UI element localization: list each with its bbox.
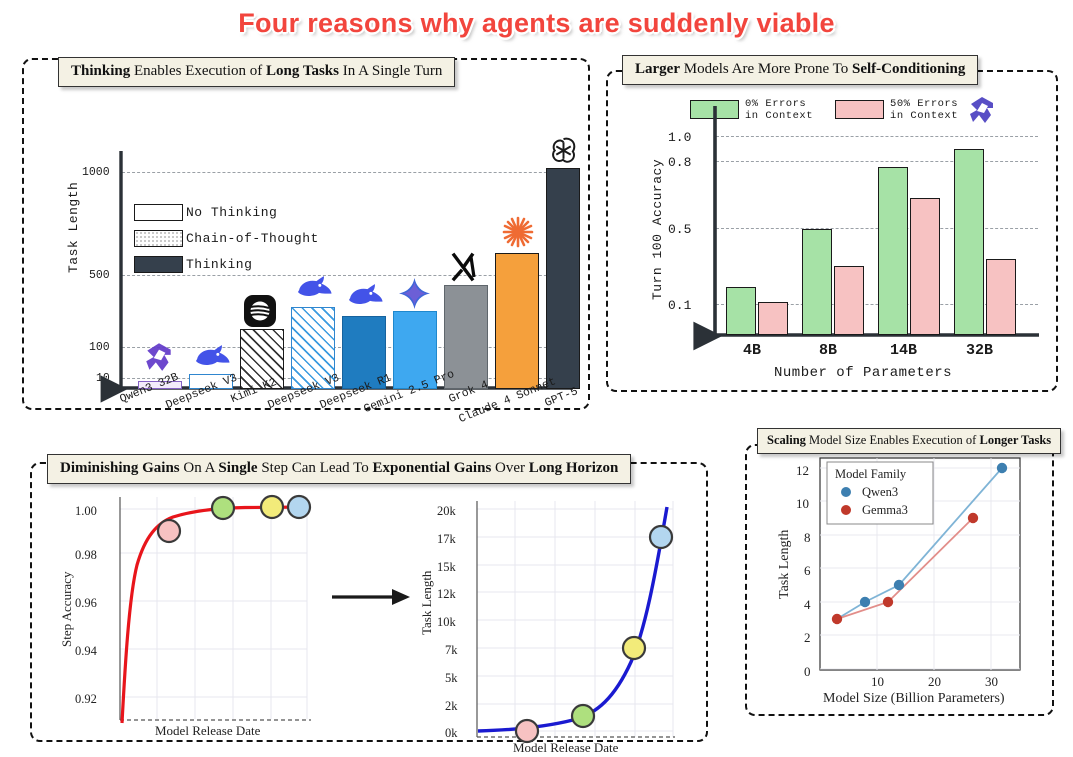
panel1-legend: No Thinking Chain-of-Thought Thinking	[134, 204, 319, 273]
grok-icon	[451, 251, 481, 283]
panel2-x-axis-label: Number of Parameters	[774, 365, 952, 381]
page-title: Four reasons why agents are suddenly via…	[0, 8, 1073, 39]
step-accuracy-x-label: Model Release Date	[155, 723, 260, 739]
panel1-title-part-1: Enables Execution of	[130, 63, 266, 79]
panel4-title-part-0: Scaling	[767, 433, 806, 447]
bar-claude-4-sonnet	[495, 253, 539, 389]
gemini-icon	[398, 277, 431, 310]
panel4-xtick-30: 30	[985, 674, 998, 690]
chart-task-length: Task Length 1000 500 100 10	[22, 58, 586, 406]
deepseek-icon-3	[345, 280, 385, 310]
panel2-title: Larger Models Are More Prone To Self-Con…	[622, 55, 978, 85]
bar-8b-50pct	[834, 266, 864, 335]
panel2-xtick-14b: 14B	[890, 342, 917, 359]
bar-4b-50pct	[758, 302, 788, 335]
claude-icon	[501, 215, 535, 249]
panel4-title-part-2: Longer Tasks	[979, 433, 1051, 447]
panel4-x-label: Model Size (Billion Parameters)	[823, 691, 1005, 707]
step-accuracy-plot	[45, 487, 330, 737]
panel4-xtick-20: 20	[928, 674, 941, 690]
panel4-legend-qwen3: Qwen3	[862, 485, 898, 500]
openai-icon	[547, 134, 580, 167]
legend-label-thinking: Thinking	[186, 257, 252, 272]
panel1-title-part-0: Thinking	[71, 63, 130, 79]
bar-4b-0pct	[726, 287, 756, 335]
qwen-icon	[142, 340, 176, 374]
panel2-xtick-32b: 32B	[966, 342, 993, 359]
panel4-title-part-1: Model Size Enables Execution of	[806, 433, 980, 447]
legend-swatch-thinking	[134, 256, 183, 273]
bar-14b-50pct	[910, 198, 940, 335]
panel3-title: Diminishing Gains On A Single Step Can L…	[47, 454, 631, 484]
panel3-title-part-2: Single	[218, 460, 257, 476]
chart-self-conditioning: 0% Errors in Context 50% Errors in Conte…	[606, 70, 1054, 388]
bar-32b-0pct	[954, 149, 984, 335]
panel4-xtick-10: 10	[871, 674, 884, 690]
bar-32b-50pct	[986, 259, 1016, 335]
task-length-plot	[405, 487, 695, 757]
panel2-xtick-4b: 4B	[743, 342, 761, 359]
legend-swatch-no-thinking	[134, 204, 183, 221]
bar-gpt-5	[546, 168, 580, 389]
panel3-title-part-3: Step Can Lead To	[258, 460, 373, 476]
panel4-legend-title: Model Family	[835, 467, 906, 482]
panel1-title-part-3: In A Single Turn	[339, 63, 442, 79]
chart-step-accuracy: Step Accuracy 1.00 0.98 0.96 0.94 0.92 M…	[45, 487, 330, 737]
kimi-icon	[244, 295, 276, 327]
panel4-legend-gemma3: Gemma3	[862, 503, 908, 518]
panel2-title-part-1: Models Are More Prone To	[680, 61, 852, 77]
panel2-title-part-0: Larger	[635, 61, 680, 77]
legend-swatch-chain-of-thought	[134, 230, 183, 247]
legend-label-chain-of-thought: Chain-of-Thought	[186, 231, 319, 246]
panel1-title-part-2: Long Tasks	[266, 63, 339, 79]
panel2-xtick-8b: 8B	[819, 342, 837, 359]
panel3-title-part-4: Exponential Gains	[373, 460, 492, 476]
panel3-title-part-5: Over	[491, 460, 529, 476]
panel2-title-part-2: Self-Conditioning	[852, 61, 965, 77]
panel3-title-part-6: Long Horizon	[529, 460, 619, 476]
task-length-x-label: Model Release Date	[513, 740, 618, 756]
deepseek-icon-2	[294, 272, 334, 302]
panel4-title: Scaling Model Size Enables Execution of …	[757, 428, 1061, 454]
arrow-right-icon	[330, 585, 415, 609]
panel3-title-part-0: Diminishing Gains	[60, 460, 180, 476]
bar-14b-0pct	[878, 167, 908, 335]
panel3-title-part-1: On A	[180, 460, 219, 476]
deepseek-icon-1	[192, 341, 232, 371]
chart-task-length-exponential: Task Length 20k 17k 15k 12k 10k 7k 5k 2k…	[405, 487, 695, 737]
legend-label-no-thinking: No Thinking	[186, 205, 277, 220]
bar-8b-0pct	[802, 229, 832, 335]
chart-model-size-scaling: Task Length 12 10 8 6 4 2 0	[745, 444, 1050, 712]
panel1-title: Thinking Enables Execution of Long Tasks…	[58, 57, 455, 87]
